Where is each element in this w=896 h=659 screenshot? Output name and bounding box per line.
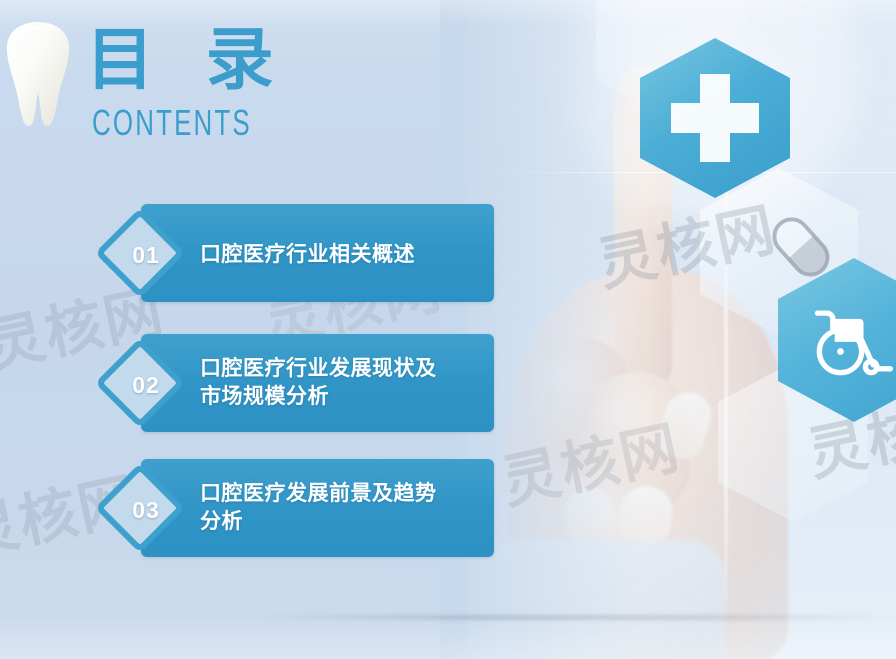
contents-title-02: 口腔医疗行业发展现状及 市场规模分析	[200, 354, 480, 410]
contents-title-line: 市场规模分析	[200, 382, 480, 410]
contents-number-03: 03	[108, 497, 184, 524]
page-title: 目 录 CONTENTS	[86, 22, 314, 142]
contents-number-01: 01	[108, 242, 184, 269]
background-bottom-band	[0, 615, 896, 659]
contents-title-03: 口腔医疗发展前景及趋势 分析	[200, 479, 480, 535]
contents-number-02: 02	[108, 372, 184, 399]
contents-title-line: 口腔医疗发展前景及趋势	[200, 479, 480, 507]
page-title-cn: 目 录	[86, 22, 314, 100]
contents-title-line: 分析	[200, 507, 480, 535]
page-title-en: CONTENTS	[92, 104, 252, 142]
contents-title-line: 口腔医疗行业发展现状及	[200, 354, 480, 382]
background-left-fade	[440, 0, 640, 659]
contents-title-01: 口腔医疗行业相关概述	[200, 240, 480, 268]
presentation-slide: 灵核网 灵核网 灵核网 灵核网 灵核网 灵核网 灵核网 目 录 CONTENTS…	[0, 0, 896, 659]
tooth-icon	[2, 16, 74, 134]
contents-title-line: 口腔医疗行业相关概述	[200, 240, 480, 268]
